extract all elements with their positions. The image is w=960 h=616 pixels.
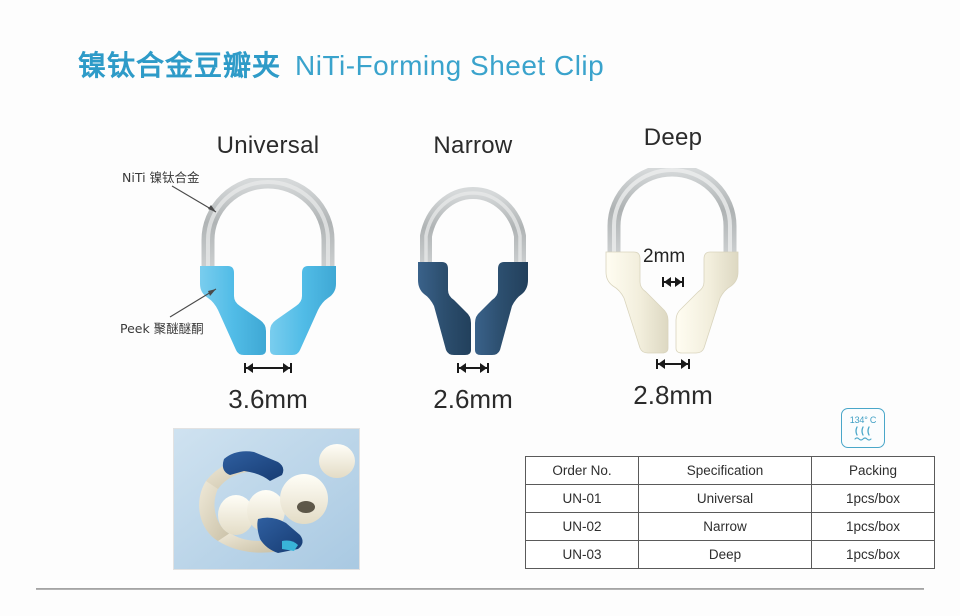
table-cell-packing: 1pcs/box (812, 485, 935, 513)
table-cell-packing: 1pcs/box (812, 541, 935, 569)
sterilization-unit: C (870, 415, 876, 425)
product-heading: Narrow (388, 132, 558, 160)
sterilization-temperature-value: 134 (850, 415, 864, 425)
product-heading: Universal (168, 132, 368, 160)
table-cell-specification: Deep (639, 541, 812, 569)
table-row: UN-02 Narrow 1pcs/box (526, 513, 935, 541)
inner-measurement-label: 2mm (643, 246, 685, 268)
product-narrow: Narrow (388, 132, 558, 415)
clinical-photo (173, 428, 360, 570)
degree-symbol: ° (864, 415, 867, 425)
measurement-value: 3.6mm (168, 384, 368, 415)
footer-divider (36, 588, 924, 590)
dimension-marker-deep (578, 358, 768, 370)
product-gallery: Universal (0, 120, 960, 400)
table-header-row: Order No. Specification Packing (526, 457, 935, 485)
product-deep: Deep (578, 124, 768, 411)
clip-diagram-narrow (408, 178, 538, 358)
table-header-cell: Order No. (526, 457, 639, 485)
dimension-marker-narrow (388, 362, 558, 374)
page-title: 镍钛合金豆瓣夹 NiTi-Forming Sheet Clip (78, 44, 604, 84)
table-row: UN-01 Universal 1pcs/box (526, 485, 935, 513)
sterilization-badge: 134° C (841, 408, 885, 448)
table-header-cell: Specification (639, 457, 812, 485)
clip-diagram-deep: 2mm (598, 168, 748, 358)
table-cell-specification: Narrow (639, 513, 812, 541)
table-cell-order-no: UN-02 (526, 513, 639, 541)
dimension-marker-deep-inner (652, 276, 694, 288)
sterilization-temperature-label: 134° C (850, 416, 876, 425)
table-row: UN-03 Deep 1pcs/box (526, 541, 935, 569)
table-header-cell: Packing (812, 457, 935, 485)
page-title-english: NiTi-Forming Sheet Clip (295, 50, 604, 82)
table-cell-packing: 1pcs/box (812, 513, 935, 541)
specification-table: Order No. Specification Packing UN-01 Un… (525, 456, 935, 569)
measurement-value: 2.8mm (578, 380, 768, 411)
steam-icon (851, 426, 875, 441)
clip-svg (408, 178, 538, 358)
page-title-chinese: 镍钛合金豆瓣夹 (78, 44, 281, 84)
callout-leader-niti (170, 178, 250, 220)
callout-leader-peek (168, 283, 248, 323)
table-cell-specification: Universal (639, 485, 812, 513)
table-cell-order-no: UN-03 (526, 541, 639, 569)
clinical-photo-illustration (174, 429, 359, 569)
product-heading: Deep (578, 124, 768, 152)
dimension-marker-universal (168, 362, 368, 374)
measurement-value: 2.6mm (388, 384, 558, 415)
table-cell-order-no: UN-01 (526, 485, 639, 513)
product-spec-sheet: 镍钛合金豆瓣夹 NiTi-Forming Sheet Clip Universa… (0, 0, 960, 616)
